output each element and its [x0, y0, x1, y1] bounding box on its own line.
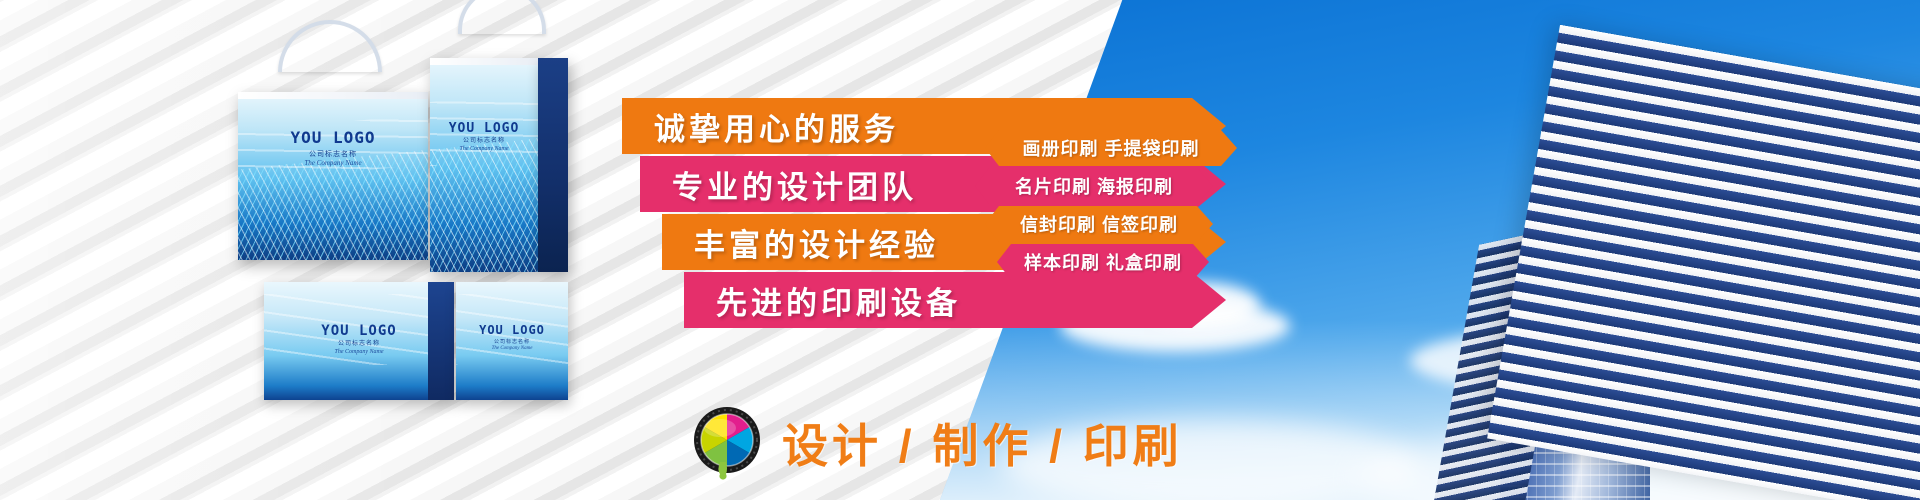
bag-side-panel	[538, 58, 568, 272]
service-pill: 样本印刷 礼盒印刷	[997, 244, 1209, 280]
brochure-card-left: YOU LOGO 公司标志名称 The Company Name	[264, 282, 454, 400]
service-pill: 画册印刷 手提袋印刷	[985, 130, 1237, 166]
tagline-block: 设计 / 制作 / 印刷	[690, 406, 1183, 480]
bag-logo-cn: 公司标志名称	[430, 138, 538, 146]
bag-top-edge	[430, 58, 538, 65]
color-wheel-icon	[690, 406, 764, 480]
striped-tower	[1487, 25, 1920, 500]
card-logo-main: YOU LOGO	[264, 324, 454, 338]
service-pill-group: 画册印刷 手提袋印刷 名片印刷 海报印刷 信封印刷 信签印刷 样本印刷 礼盒印刷	[975, 130, 1255, 290]
slogan-text: 先进的印刷设备	[716, 278, 961, 323]
service-pill: 名片印刷 海报印刷	[975, 168, 1213, 204]
card-logo-en: The Company Name	[264, 349, 454, 357]
bag-logo-main: YOU LOGO	[238, 130, 428, 146]
service-pill-text: 样本印刷 礼盒印刷	[1024, 249, 1182, 275]
bag-top-edge	[238, 92, 428, 99]
card-logo-cn: 公司标志名称	[264, 341, 454, 349]
bag-logo-main: YOU LOGO	[430, 122, 538, 135]
bag-front-panel: YOU LOGO 公司标志名称 The Company Name	[430, 58, 538, 272]
slogan-text: 丰富的设计经验	[694, 220, 939, 265]
bag-logo-cn: 公司标志名称	[238, 150, 428, 159]
paper-bag-large: YOU LOGO 公司标志名称 The Company Name	[238, 60, 428, 260]
tagline-text: 设计 / 制作 / 印刷	[782, 410, 1183, 476]
service-pill-text: 信封印刷 信签印刷	[1020, 211, 1178, 237]
paper-bag-tall: YOU LOGO 公司标志名称 The Company Name	[430, 22, 568, 272]
service-pill: 信封印刷 信签印刷	[985, 206, 1213, 242]
promo-banner: YOU LOGO 公司标志名称 The Company Name YOU LOG…	[0, 0, 1920, 500]
slogan-text: 专业的设计团队	[672, 162, 917, 207]
brochure-card-right: YOU LOGO 公司标志名称 The Company Name	[456, 282, 568, 400]
bag-logo-en: The Company Name	[430, 146, 538, 154]
service-pill-text: 名片印刷 海报印刷	[1015, 173, 1173, 199]
service-pill-text: 画册印刷 手提袋印刷	[1022, 135, 1199, 161]
slogan-text: 诚挚用心的服务	[654, 104, 899, 149]
bag-handle	[458, 0, 546, 34]
card-logo-en: The Company Name	[456, 346, 568, 353]
bag-logo-en: The Company Name	[238, 159, 428, 168]
card-logo-main: YOU LOGO	[456, 324, 568, 336]
bag-front-panel: YOU LOGO 公司标志名称 The Company Name	[238, 92, 428, 260]
